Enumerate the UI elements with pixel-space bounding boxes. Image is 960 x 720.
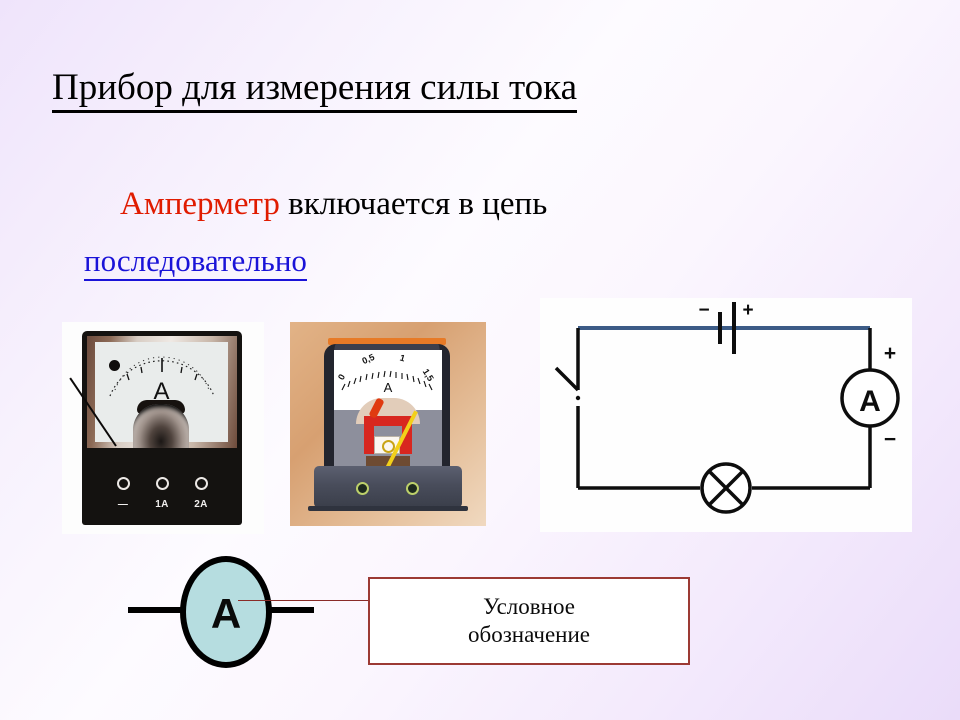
circuit-ammeter-minus-label: − [884, 428, 896, 451]
symbol-circle: A [180, 556, 272, 668]
demo-ammeter-foot [308, 506, 468, 511]
ammeter-photo-terminal[interactable]: 1A [145, 477, 179, 512]
slide-canvas: Прибор для измерения силы тока Амперметр… [0, 0, 960, 720]
demo-ammeter-pivot [382, 440, 395, 453]
callout-line-1: Условное [468, 593, 590, 621]
symbol-lead-right [268, 607, 314, 613]
ammeter-photo: A — 1A 2A [62, 322, 264, 534]
symbol-lead-left [128, 607, 184, 613]
demo-ammeter-dial-letter: A [334, 380, 442, 395]
circuit-diagram: A − + + − [540, 298, 912, 532]
callout-box: Условное обозначение [368, 577, 690, 665]
circuit-ammeter-letter: A [859, 385, 881, 418]
ammeter-photo-dial-face: A [95, 342, 228, 442]
ammeter-photo-terminal[interactable]: — [106, 477, 140, 512]
ammeter-photo-terminal[interactable]: 2A [184, 477, 218, 512]
callout-text: Условное обозначение [468, 593, 590, 649]
circuit-ammeter-symbol-icon: A [842, 370, 898, 426]
demo-ammeter-interior [334, 410, 442, 468]
ammeter-photo-movement [133, 404, 189, 448]
terminal-label: 2A [194, 499, 207, 510]
callout-line-2: обозначение [468, 621, 590, 649]
symbol-letter: A [186, 590, 266, 638]
terminal-hole-icon [156, 477, 169, 490]
demo-ammeter-socket-icon[interactable] [356, 482, 369, 495]
terminal-label: 1A [155, 499, 168, 510]
circuit-diagram-svg: A − + + − [540, 298, 912, 532]
ammeter-photo-needle-tip [109, 360, 120, 371]
statement-line-2: последовательно [84, 243, 307, 279]
page-title-text: Прибор для измерения силы тока [52, 67, 577, 113]
ammeter-photo-body: A — 1A 2A [82, 331, 242, 525]
statement-line-2-text: последовательно [84, 243, 307, 281]
ammeter-photo-terminal-row: — 1A 2A [82, 457, 242, 525]
page-title: Прибор для измерения силы тока [52, 66, 577, 109]
terminal-hole-icon [195, 477, 208, 490]
demo-ammeter-image: 0 0,5 1 1,5 A [290, 322, 486, 526]
terminal-label: — [118, 499, 128, 510]
terminal-hole-icon [117, 477, 130, 490]
statement-rest-text: включается в цепь [280, 186, 547, 222]
switch-symbol-icon [556, 368, 578, 390]
demo-ammeter-stand [314, 466, 462, 508]
statement-highlight-word: Амперметр [120, 186, 280, 222]
demo-ammeter-socket-icon[interactable] [406, 482, 419, 495]
ammeter-photo-bezel: A [87, 336, 237, 448]
circuit-ammeter-plus-label: + [884, 342, 896, 365]
switch-contact-icon [576, 396, 580, 400]
battery-minus-label: − [698, 300, 709, 321]
battery-plus-label: + [742, 300, 753, 321]
lamp-symbol-icon [702, 464, 750, 512]
ammeter-schematic-symbol: A [128, 552, 388, 676]
statement-line-1: Амперметр включается в цепь [120, 186, 547, 223]
